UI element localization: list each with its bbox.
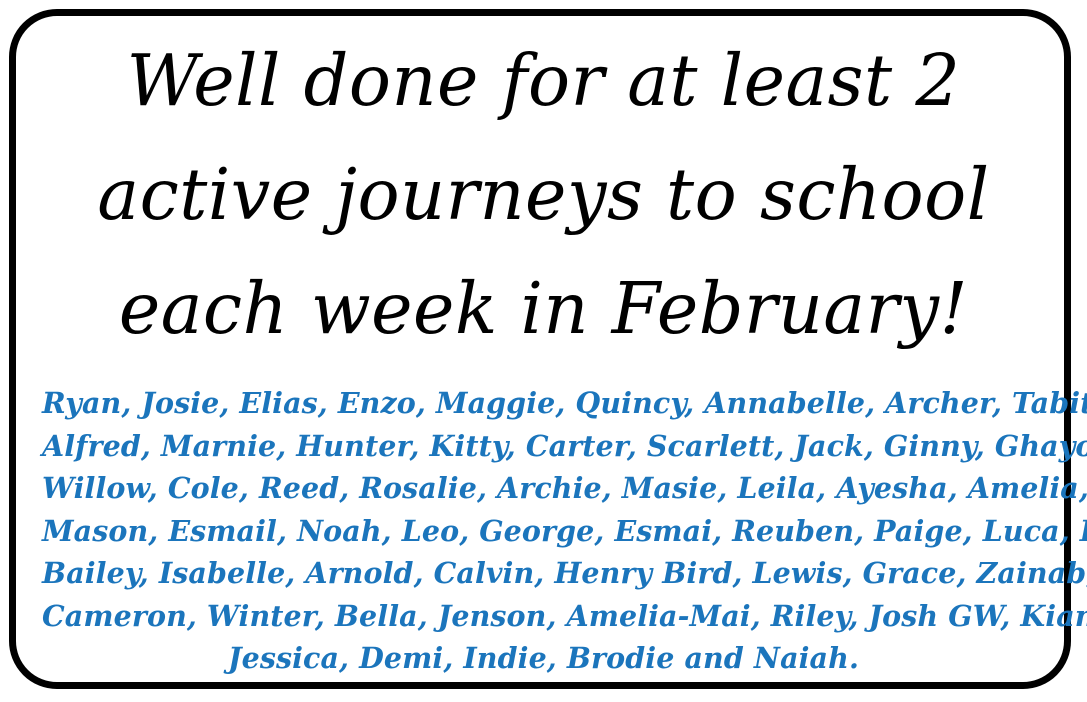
name-list-line-1: Ryan, Josie, Elias, Enzo, Maggie, Quincy… — [42, 382, 1045, 425]
headline-line-2: active journeys to school — [50, 138, 1038, 252]
name-list: Ryan, Josie, Elias, Enzo, Maggie, Quincy… — [42, 382, 1045, 680]
name-list-line-7: Jessica, Demi, Indie, Brodie and Naiah. — [42, 637, 1045, 680]
headline-line-1: Well done for at least 2 — [50, 24, 1038, 138]
certificate-poster: Well done for at least 2 active journeys… — [0, 0, 1087, 702]
headline: Well done for at least 2 active journeys… — [42, 24, 1045, 366]
name-list-line-2: Alfred, Marnie, Hunter, Kitty, Carter, S… — [42, 425, 1045, 468]
name-list-line-3: Willow, Cole, Reed, Rosalie, Archie, Mas… — [42, 467, 1045, 510]
name-list-line-4: Mason, Esmail, Noah, Leo, George, Esmai,… — [42, 510, 1045, 553]
name-list-line-6: Cameron, Winter, Bella, Jenson, Amelia-M… — [42, 595, 1045, 638]
name-list-line-5: Bailey, Isabelle, Arnold, Calvin, Henry … — [42, 552, 1045, 595]
poster-content: Well done for at least 2 active journeys… — [0, 0, 1087, 702]
headline-line-3: each week in February! — [50, 252, 1038, 366]
